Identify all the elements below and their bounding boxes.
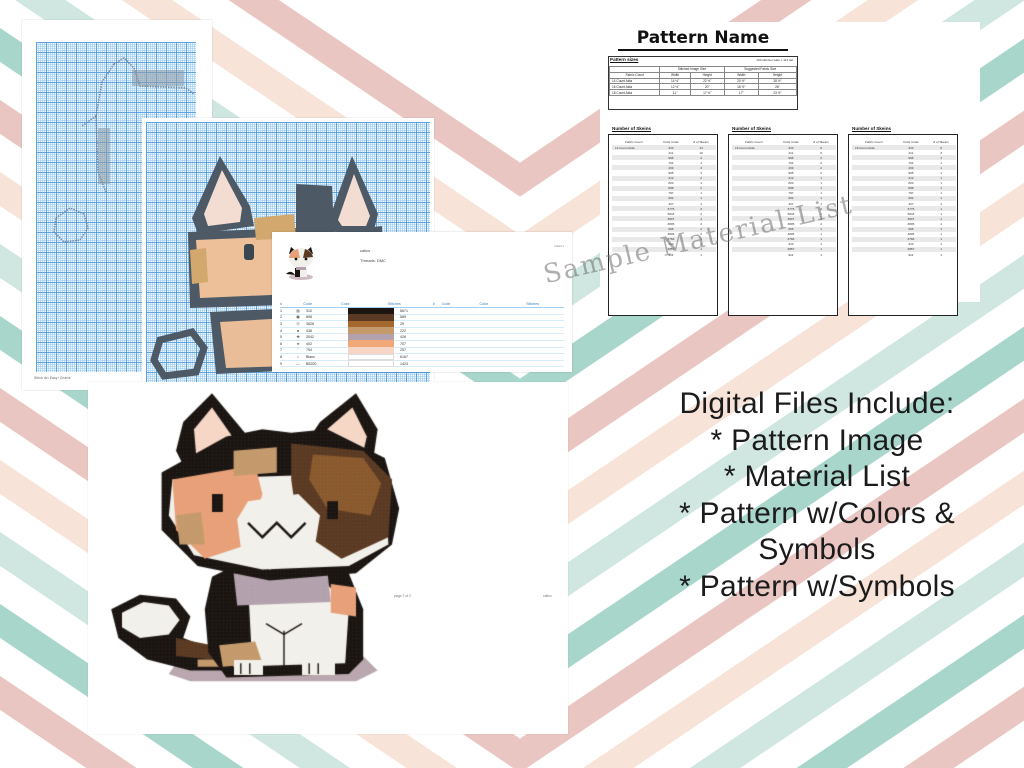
thread-legend-row: 7′754257 bbox=[280, 348, 564, 355]
legend-row-stitches: 707 bbox=[400, 342, 442, 346]
legend-pattern-name: calico bbox=[360, 246, 386, 256]
legend-row-number: 4 bbox=[280, 329, 290, 333]
pattern-sizes-label: Pattern sizes bbox=[610, 57, 638, 62]
legend-row-symbol-icon: ≋ bbox=[290, 342, 306, 346]
legend-row-stitches: 589 bbox=[400, 315, 442, 319]
legend-row-color-swatch bbox=[348, 334, 400, 341]
legend-row-stitches: 29 bbox=[400, 322, 442, 326]
thread-legend-body: 1▨31066712▦8985893ⓑ3826294♣4362225✤30424… bbox=[280, 308, 564, 367]
legend-row-symbol-icon: ∷ bbox=[290, 355, 306, 359]
pixel-cat-artwork bbox=[104, 386, 414, 706]
skein-table-16ct: Number of Skeins Fabric Count Color Code… bbox=[728, 134, 838, 316]
legend-row-stitches: 1423 bbox=[400, 362, 442, 366]
legend-col-number: # bbox=[280, 302, 289, 306]
legend-col-code: Code bbox=[303, 302, 341, 306]
pattern-sizes-box: Pattern sizes 100 stitches wide x 113 ta… bbox=[608, 56, 798, 110]
thread-legend-row: 9—B52001423 bbox=[280, 361, 564, 368]
skein-code-cell: 921 bbox=[656, 252, 686, 257]
skein-grid-18ct: Fabric Count Color Code # of Skeins 18 C… bbox=[852, 139, 956, 257]
pattern-sizes-cell: 17 ½" bbox=[690, 90, 724, 96]
digital-files-item-2: * Pattern w/Colors & bbox=[612, 496, 1022, 533]
skein-fabric-cell bbox=[732, 252, 776, 257]
pattern-sizes-body: 14 Count Aida14 ½"22 ½"20 ½"28 ½"16 Coun… bbox=[610, 78, 797, 95]
legend-row-symbol-icon: ✤ bbox=[290, 335, 306, 339]
legend-row-color-swatch bbox=[348, 321, 400, 328]
cat-name-label: calico bbox=[543, 594, 552, 598]
skein-grid-14ct: Fabric Count Color Code # of Skeins 14 C… bbox=[612, 139, 716, 257]
legend-row-stitches: 222 bbox=[400, 329, 442, 333]
skein-table-18ct: Number of Skeins Fabric Count Color Code… bbox=[848, 134, 958, 316]
legend-col-symbol bbox=[289, 302, 303, 306]
legend-row-code: 3042 bbox=[306, 335, 348, 339]
legend-row-symbol-icon: ⓑ bbox=[290, 321, 306, 326]
legend-row-code: 402 bbox=[306, 342, 348, 346]
material-list-page[interactable]: Pattern Name Pattern sizes 100 stitches … bbox=[600, 22, 980, 302]
digital-files-block: Digital Files Include: * Pattern Image *… bbox=[612, 386, 1022, 606]
pattern-sizes-row: 18 Count Aida11"17 ½"17"23 ½" bbox=[610, 90, 797, 96]
skein-title-14ct: Number of Skeins bbox=[611, 126, 652, 131]
pattern-name-title: Pattern Name bbox=[618, 28, 788, 51]
skein-grid-16ct: Fabric Count Color Code # of Skeins 16 C… bbox=[732, 139, 836, 257]
skein18-body: 18 Count Aida310621139961791120919951312… bbox=[852, 145, 956, 257]
thread-legend-row: 6≋402707 bbox=[280, 341, 564, 348]
symbol-sheet-footer: Stitch Art Easy! Charts bbox=[34, 376, 71, 380]
skein-fabric-cell bbox=[852, 252, 896, 257]
digital-files-item-1: * Material List bbox=[612, 459, 1022, 496]
legend-row-number: 2 bbox=[280, 315, 290, 319]
skein-row: 9211 bbox=[852, 252, 956, 257]
legend-row-number: 3 bbox=[280, 322, 290, 326]
legend-meta: calico Threads: DMC bbox=[360, 246, 386, 267]
pattern-thumbnail bbox=[282, 244, 320, 282]
digital-files-item-4: * Pattern w/Symbols bbox=[612, 569, 1022, 606]
legend2-col-code: Code bbox=[442, 302, 480, 306]
skein-count-cell: 1 bbox=[926, 252, 956, 257]
legend-row-symbol-icon: ′ bbox=[290, 348, 306, 352]
legend-row-code: B5200 bbox=[306, 362, 348, 366]
pattern-sizes-cell: 18 Count Aida bbox=[610, 90, 660, 96]
legend-row-code: 310 bbox=[306, 309, 348, 313]
skein-count-cell: 1 bbox=[686, 252, 716, 257]
pattern-sizes-subtitle: 100 stitches wide x 113 tall bbox=[756, 58, 793, 62]
pattern-sizes-cell: 17" bbox=[724, 90, 758, 96]
skein16-body: 16 Count Aida310821169962791220929952312… bbox=[732, 145, 836, 257]
skein-title-16ct: Number of Skeins bbox=[731, 126, 772, 131]
digital-files-item-0: * Pattern Image bbox=[612, 423, 1022, 460]
legend-column-gap bbox=[426, 302, 433, 306]
pattern-sizes-table: Stitched Image Size Suggested Fabric Siz… bbox=[609, 66, 797, 96]
skein-row: 9211 bbox=[612, 252, 716, 257]
legend-row-color-swatch bbox=[348, 340, 400, 347]
skein-table-14ct: Number of Skeins Fabric Count Color Code… bbox=[608, 134, 718, 316]
legend-threads-label: Threads: DMC bbox=[360, 256, 386, 266]
thread-legend-row: 2▦898589 bbox=[280, 315, 564, 322]
skein-row: 9211 bbox=[732, 252, 836, 257]
cat-page-label: page 2 of 2 bbox=[394, 594, 411, 598]
legend-row-code: 3826 bbox=[306, 322, 348, 326]
pattern-image-page[interactable]: page 2 of 2 calico bbox=[88, 382, 568, 734]
legend-row-number: 9 bbox=[280, 362, 290, 366]
legend-row-color-swatch bbox=[348, 360, 400, 367]
legend-row-code: Blanc bbox=[306, 355, 348, 359]
thread-legend-row: 5✤3042426 bbox=[280, 334, 564, 341]
legend-col-stitches: Stitches bbox=[388, 302, 426, 306]
legend-row-number: 8 bbox=[280, 355, 290, 359]
skein-title-18ct: Number of Skeins bbox=[851, 126, 892, 131]
legend2-col-color: Color bbox=[480, 302, 527, 306]
pattern-sizes-cell: 23 ½" bbox=[758, 90, 796, 96]
legend-row-code: 436 bbox=[306, 329, 348, 333]
digital-files-heading: Digital Files Include: bbox=[612, 386, 1022, 423]
skein-code-cell: 921 bbox=[896, 252, 926, 257]
legend-row-number: 6 bbox=[280, 342, 290, 346]
pattern-sizes-cell: 11" bbox=[660, 90, 690, 96]
thread-legend-row: 3ⓑ382629 bbox=[280, 321, 564, 328]
thread-legend-row: 8∷Blanc6167 bbox=[280, 354, 564, 361]
legend-row-symbol-icon: ▦ bbox=[290, 315, 306, 319]
legend2-col-number: # bbox=[433, 302, 442, 306]
legend-row-stitches: 257 bbox=[400, 348, 442, 352]
skein-code-cell: 921 bbox=[776, 252, 806, 257]
legend-row-stitches: 6167 bbox=[400, 355, 442, 359]
legend-row-stitches: 6671 bbox=[400, 309, 442, 313]
thread-legend-page[interactable]: calico Threads: DMC Colors 1 # Code Colo… bbox=[272, 232, 572, 372]
legend-row-symbol-icon: — bbox=[290, 362, 306, 366]
legend-row-number: 7 bbox=[280, 348, 290, 352]
legend-row-color-swatch bbox=[348, 354, 400, 361]
legend-row-stitches: 426 bbox=[400, 335, 442, 339]
legend-row-code: 754 bbox=[306, 348, 348, 352]
legend-row-number: 1 bbox=[280, 309, 290, 313]
skein-count-cell: 1 bbox=[806, 252, 836, 257]
legend-row-color-swatch bbox=[348, 314, 400, 321]
legend-row-color-swatch bbox=[348, 347, 400, 354]
thread-legend-row: 1▨3106671 bbox=[280, 308, 564, 315]
thread-legend-table: # Code Color Stitches # Code Color Stitc… bbox=[280, 302, 564, 367]
legend-row-number: 5 bbox=[280, 335, 290, 339]
digital-files-item-3: Symbols bbox=[612, 532, 1022, 569]
skein14-body: 14 Count Aida310132111099647914209399533… bbox=[612, 145, 716, 257]
legend-col-color: Color bbox=[341, 302, 388, 306]
thread-legend-row: 4♣436222 bbox=[280, 328, 564, 335]
legend-row-symbol-icon: ▨ bbox=[290, 309, 306, 313]
legend-row-symbol-icon: ♣ bbox=[290, 329, 306, 333]
legend-row-color-swatch bbox=[348, 308, 400, 315]
legend2-col-stitches: Stitches bbox=[526, 302, 564, 306]
legend-corner-note: Colors 1 bbox=[554, 245, 564, 249]
legend-row-color-swatch bbox=[348, 327, 400, 334]
skein-fabric-cell bbox=[612, 252, 656, 257]
legend-row-code: 898 bbox=[306, 315, 348, 319]
